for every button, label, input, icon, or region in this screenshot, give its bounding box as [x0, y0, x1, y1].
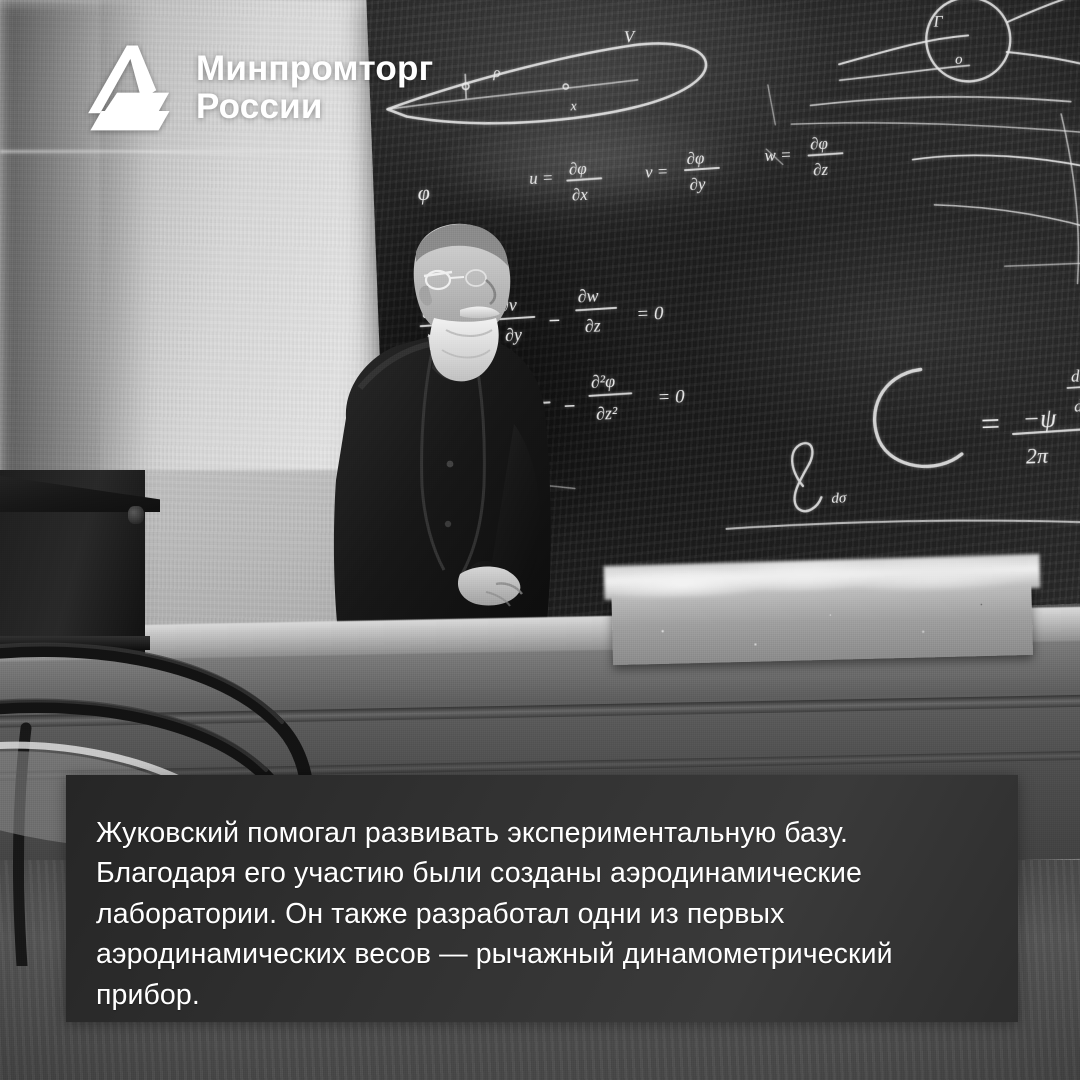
svg-text:=: =: [978, 405, 1002, 443]
lecturer-figure: [300, 218, 600, 648]
svg-text:dn: dn: [1074, 396, 1080, 416]
caption-text: Жуковский помогал развивать эксперимента…: [96, 813, 974, 1015]
svg-text:φ: φ: [417, 180, 430, 205]
svg-text:∂x: ∂x: [571, 185, 588, 205]
svg-text:x: x: [569, 99, 578, 114]
svg-text:∂φ: ∂φ: [686, 148, 705, 168]
svg-text:2π: 2π: [1025, 443, 1049, 469]
svg-text:∂z: ∂z: [813, 160, 829, 180]
svg-text:∂φ: ∂φ: [810, 134, 829, 154]
svg-text:= 0: = 0: [657, 386, 685, 408]
svg-text:w =: w =: [764, 145, 792, 165]
svg-text:dφ: dφ: [1071, 366, 1080, 386]
svg-text:V: V: [624, 27, 638, 46]
wall-seam: [0, 150, 420, 153]
svg-text:∂φ: ∂φ: [569, 159, 588, 179]
svg-text:u =: u =: [529, 168, 554, 188]
svg-text:v =: v =: [645, 162, 669, 182]
svg-text:dσ: dσ: [831, 490, 847, 507]
plaster-model-specks: [611, 569, 1033, 665]
brand-lockup: Минпромторг России: [84, 42, 433, 134]
caption-panel: Жуковский помогал развивать эксперимента…: [66, 775, 1018, 1022]
svg-text:= 0: = 0: [636, 303, 664, 325]
svg-text:o: o: [955, 52, 964, 68]
svg-text:ρ: ρ: [492, 65, 501, 81]
svg-text:Γ: Γ: [932, 13, 944, 30]
cabinet-knob: [128, 506, 144, 524]
svg-text:−ψ: −ψ: [1022, 403, 1058, 433]
social-media-card: ρ x V Γ o: [0, 0, 1080, 1080]
minpromtorg-triangle-logo-icon: [84, 42, 176, 134]
brand-name: Минпромторг России: [196, 50, 433, 126]
svg-text:∂y: ∂y: [689, 174, 706, 194]
